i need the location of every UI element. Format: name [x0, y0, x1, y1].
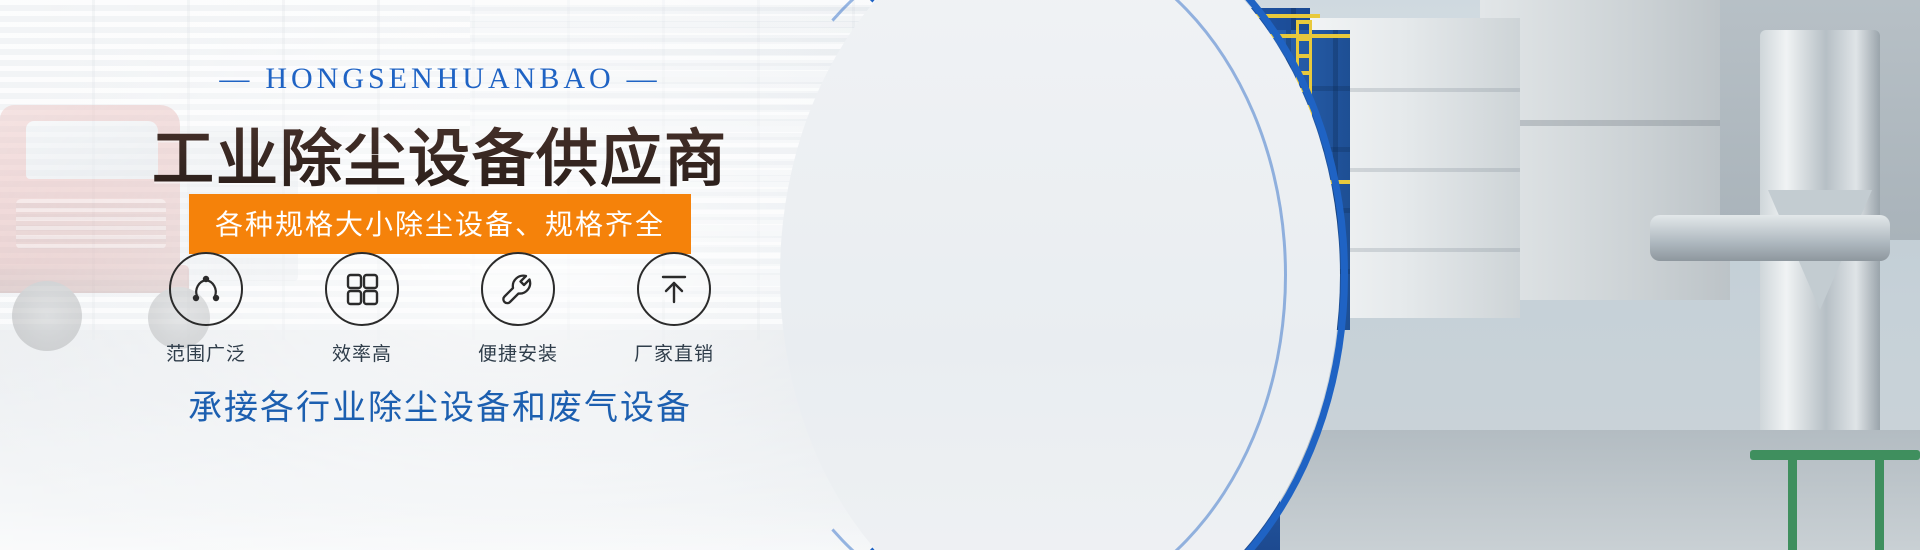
network-nodes-icon — [169, 252, 243, 326]
orange-ribbon: 各种规格大小除尘设备、规格齐全 — [189, 194, 691, 254]
subtitle-text: 承接各行业除尘设备和废气设备 — [0, 380, 880, 429]
feature-label: 厂家直销 — [619, 339, 729, 366]
green-fence-rail — [1750, 450, 1920, 460]
feature-item-wide-range[interactable]: 范围广泛 — [151, 252, 261, 366]
feature-label: 效率高 — [307, 339, 417, 366]
feature-list: 范围广泛 效率高 — [0, 252, 880, 366]
dash-right-icon: — — [615, 62, 673, 96]
feature-item-high-efficiency[interactable]: 效率高 — [307, 252, 417, 366]
page-title: 工业除尘设备供应商 — [0, 108, 880, 198]
eyebrow-tagline: —HONGSENHUANBAO— — [0, 62, 880, 96]
banner-content: —HONGSENHUANBAO— 工业除尘设备供应商 工业除尘设备供应商 各种规… — [0, 0, 880, 550]
silver-horizontal-pipe — [1650, 215, 1890, 261]
wrench-tool-icon — [481, 252, 555, 326]
feature-label: 范围广泛 — [151, 339, 261, 366]
green-fence-post — [1875, 450, 1884, 550]
feature-item-factory-direct[interactable]: 厂家直销 — [619, 252, 729, 366]
upload-arrow-icon — [637, 252, 711, 326]
hero-banner: —HONGSENHUANBAO— 工业除尘设备供应商 工业除尘设备供应商 各种规… — [0, 0, 1920, 550]
eyebrow-text: HONGSENHUANBAO — [265, 62, 614, 95]
four-squares-grid-icon — [325, 252, 399, 326]
gravel-ground — [1280, 430, 1920, 550]
feature-label: 便捷安装 — [463, 339, 573, 366]
green-fence-post — [1788, 450, 1797, 550]
feature-item-easy-install[interactable]: 便捷安装 — [463, 252, 573, 366]
ribbon-text: 各种规格大小除尘设备、规格齐全 — [215, 208, 665, 241]
dash-left-icon: — — [207, 62, 265, 96]
